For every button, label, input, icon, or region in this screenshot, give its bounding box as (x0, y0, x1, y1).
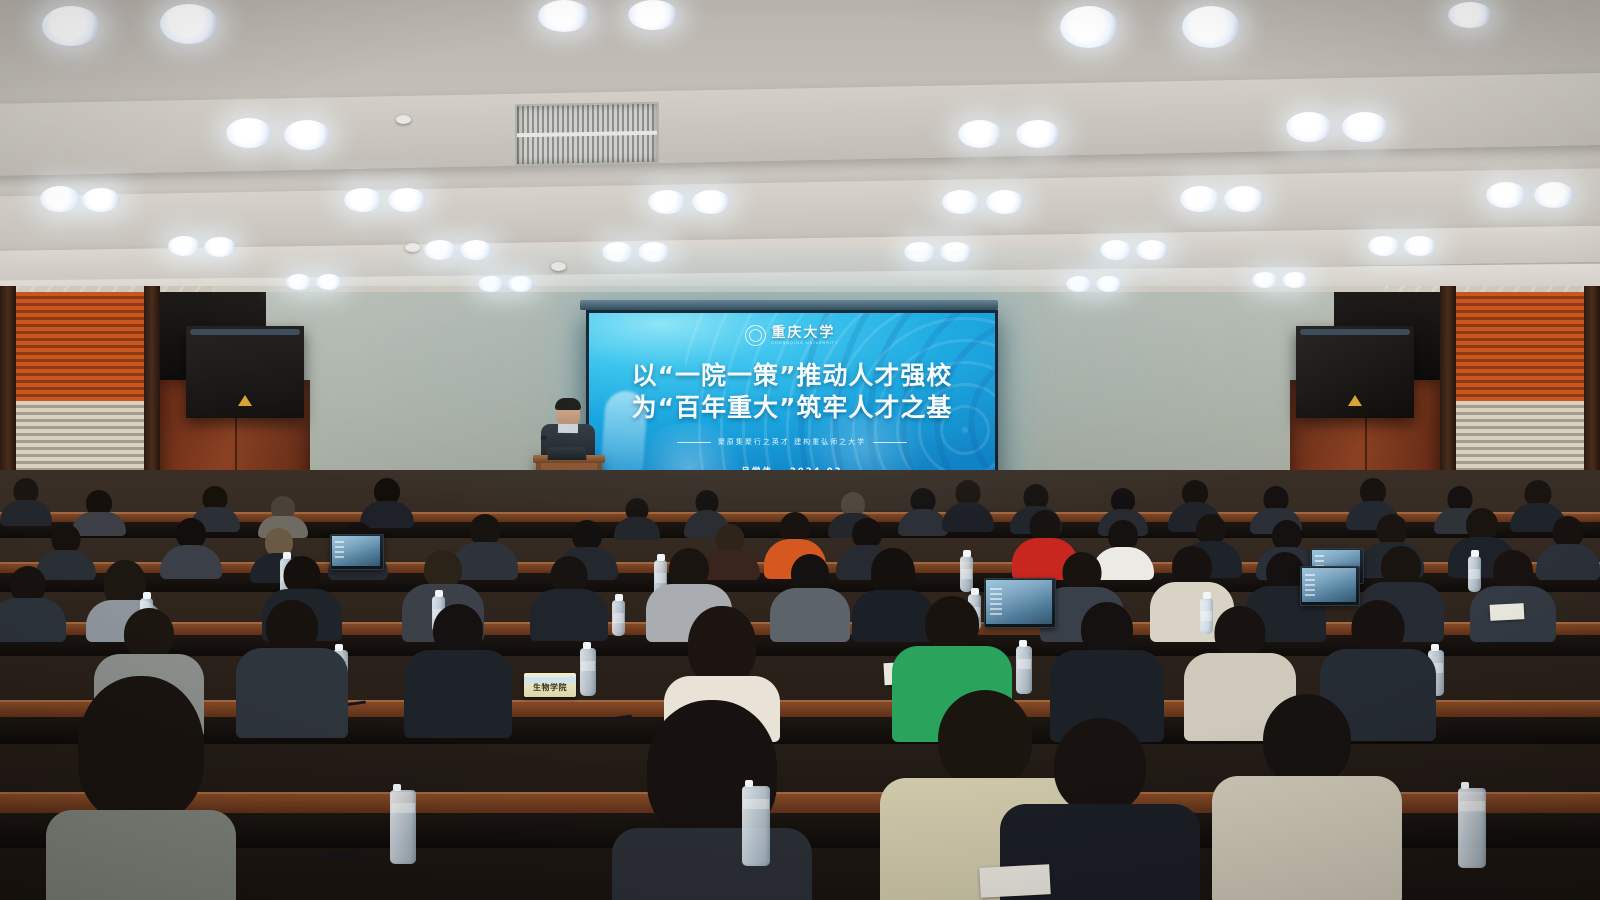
projection-screen: 重庆大学 CHONGQING UNIVERSITY 以“一院一策”推动人才强校 … (586, 310, 998, 492)
attendee (0, 478, 52, 524)
ceiling-downlight (1342, 112, 1388, 142)
slide-title-line-2: 为“百年重大”筑牢人才之基 (589, 392, 995, 424)
ceiling-downlight (478, 276, 504, 292)
ceiling-downlight (286, 274, 312, 290)
attendee (530, 556, 608, 640)
smoke-detector (551, 262, 566, 271)
ceiling-downlight (40, 186, 80, 212)
water-bottle (612, 600, 625, 636)
ceiling-downlight (508, 276, 534, 292)
slide-title-line-1: 以“一院一策”推动人才强校 (589, 360, 995, 392)
ceiling-downlight (1100, 240, 1132, 260)
ceiling-downlight (1448, 2, 1492, 28)
ceiling-downlight (1096, 276, 1122, 292)
ceiling-downlight (1182, 6, 1240, 48)
ceiling-downlight (986, 190, 1024, 214)
table-placard-biology: 生物学院 (524, 673, 576, 697)
ceiling (0, 0, 1600, 300)
ceiling-downlight (1286, 112, 1332, 142)
ceiling-downlight (344, 188, 382, 212)
paper-sheet (1490, 603, 1525, 621)
ceiling-downlight (958, 120, 1002, 148)
ceiling-downlight (538, 0, 590, 32)
water-bottle (580, 648, 596, 696)
ceiling-downlight (160, 4, 218, 44)
water-bottle (390, 790, 416, 864)
placard-text: 生物学院 (533, 682, 567, 693)
ceiling-downlight (940, 242, 972, 262)
ceiling-downlight (942, 190, 980, 214)
smoke-detector (405, 243, 420, 252)
ceiling-downlight (602, 242, 634, 262)
water-bottle (960, 556, 973, 592)
attendee (614, 498, 660, 538)
podium-laptop (548, 447, 587, 460)
water-bottle (742, 786, 770, 866)
attendee (1212, 694, 1402, 900)
ceiling-downlight (1368, 236, 1400, 256)
screen-mount-rail (580, 300, 998, 310)
slide-subtitle-text: 聚原集聚行之英才 建构重弘师之大学 (718, 437, 866, 447)
attendee (770, 554, 850, 640)
ceiling-downlight (388, 188, 426, 212)
attendee (898, 488, 948, 534)
attendee (46, 676, 236, 900)
ceiling-downlight (168, 236, 200, 256)
water-bottle (1458, 788, 1486, 868)
ceiling-downlight (904, 242, 936, 262)
water-bottle (1016, 646, 1032, 694)
ceiling-downlight (226, 118, 272, 148)
wall-mounted-loudspeaker (186, 326, 304, 418)
ceiling-downlight (82, 188, 120, 212)
ceiling-downlight (42, 6, 100, 46)
ceiling-downlight (1252, 272, 1278, 288)
attendee (1470, 550, 1556, 640)
ceiling-downlight (1136, 240, 1168, 260)
conference-hall-photo: 重庆大学 CHONGQING UNIVERSITY 以“一院一策”推动人才强校 … (0, 0, 1600, 900)
ceiling-downlight (1180, 186, 1220, 212)
ceiling-downlight (1066, 276, 1092, 292)
cqu-seal-icon (745, 325, 766, 346)
subtitle-rule-left (677, 442, 711, 443)
ceiling-downlight (316, 274, 342, 290)
attendee (160, 518, 222, 576)
ceiling-downlight (1224, 186, 1264, 212)
slide-surface: 重庆大学 CHONGQING UNIVERSITY 以“一院一策”推动人才强校 … (589, 313, 995, 489)
ceiling-downlight (424, 240, 456, 260)
attendee (942, 480, 994, 530)
ceiling-downlight (1016, 120, 1060, 148)
presenter-collar (558, 424, 578, 433)
ceiling-downlight (692, 190, 730, 214)
ceiling-downlight (648, 190, 686, 214)
ceiling-downlight (628, 0, 678, 30)
slide-title: 以“一院一策”推动人才强校 为“百年重大”筑牢人才之基 (589, 360, 995, 424)
attendee-laptop (1300, 566, 1358, 604)
attendee (0, 566, 66, 640)
slide-subtitle: 聚原集聚行之英才 建构重弘师之大学 (589, 437, 995, 447)
university-name-cn: 重庆大学 (771, 326, 835, 340)
university-logo: 重庆大学 CHONGQING UNIVERSITY (589, 325, 995, 346)
attendee (404, 604, 512, 734)
smoke-detector (396, 115, 411, 124)
paper-sheet (979, 864, 1050, 898)
attendee (360, 478, 414, 526)
attendee (612, 700, 812, 900)
ceiling-downlight (1060, 6, 1118, 48)
ceiling-downlight (1486, 182, 1526, 208)
university-name-en: CHONGQING UNIVERSITY (771, 342, 838, 346)
ceiling-downlight (284, 120, 330, 150)
ceiling-downlight (1404, 236, 1436, 256)
ceiling-downlight (460, 240, 492, 260)
ceiling-downlight (1534, 182, 1574, 208)
ceiling-downlight (204, 237, 236, 257)
subtitle-rule-right (873, 442, 907, 443)
hvac-vent-grille (515, 102, 659, 167)
attendee (236, 600, 348, 734)
wall-mounted-loudspeaker (1296, 326, 1414, 418)
ceiling-downlight (1282, 272, 1308, 288)
presenter-hair (555, 398, 581, 410)
ceiling-downlight (638, 242, 670, 262)
